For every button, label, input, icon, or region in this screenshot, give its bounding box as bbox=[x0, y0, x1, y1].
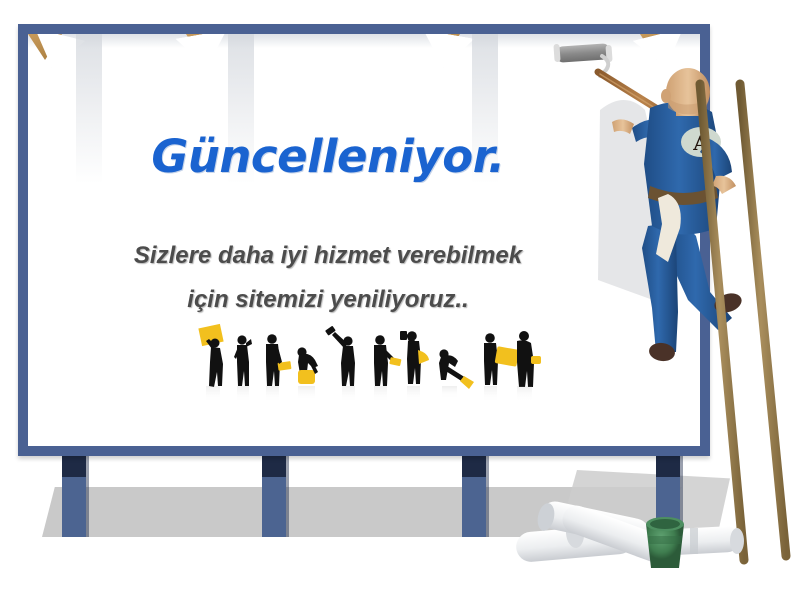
billboard-panel: Güncelleniyor. Sizlere daha iyi hizmet v… bbox=[28, 34, 700, 446]
worker-silhouette bbox=[198, 324, 223, 387]
billboard-frame: Güncelleniyor. Sizlere daha iyi hizmet v… bbox=[18, 24, 710, 456]
leg-cap bbox=[462, 455, 486, 477]
page-title: Güncelleniyor. bbox=[28, 130, 628, 183]
painter-hand bbox=[712, 176, 736, 194]
leg-cap bbox=[262, 455, 286, 477]
leg-cap bbox=[656, 455, 680, 477]
construction-workers-illustration bbox=[198, 322, 548, 402]
maintenance-page: Güncelleniyor. Sizlere daha iyi hizmet v… bbox=[0, 0, 800, 603]
worker-silhouette bbox=[517, 331, 541, 387]
worker-silhouette bbox=[234, 335, 252, 386]
subtitle-line-1: Sizlere daha iyi hizmet verebilmek bbox=[28, 242, 628, 270]
subtitle-line-2: için sitemizi yeniliyoruz.. bbox=[28, 286, 628, 314]
worker-silhouette bbox=[297, 347, 318, 384]
worker-silhouette bbox=[400, 331, 429, 384]
billboard-leg-left bbox=[62, 455, 86, 537]
worker-silhouette bbox=[484, 333, 519, 385]
billboard-leg-center bbox=[262, 455, 286, 537]
worker-silhouette bbox=[374, 335, 401, 386]
workers-reflection bbox=[206, 386, 532, 402]
worker-silhouette bbox=[325, 326, 355, 386]
painter-shoe bbox=[712, 290, 744, 316]
ladder-rail-right bbox=[740, 84, 786, 556]
worker-silhouette bbox=[266, 334, 291, 386]
leg-cap bbox=[62, 455, 86, 477]
panel-top-shading bbox=[28, 34, 700, 48]
worker-silhouette bbox=[439, 349, 474, 389]
billboard-leg-right bbox=[462, 455, 486, 537]
billboard-leg-far-right bbox=[656, 455, 680, 537]
ladder-ground-shadow bbox=[560, 470, 730, 540]
